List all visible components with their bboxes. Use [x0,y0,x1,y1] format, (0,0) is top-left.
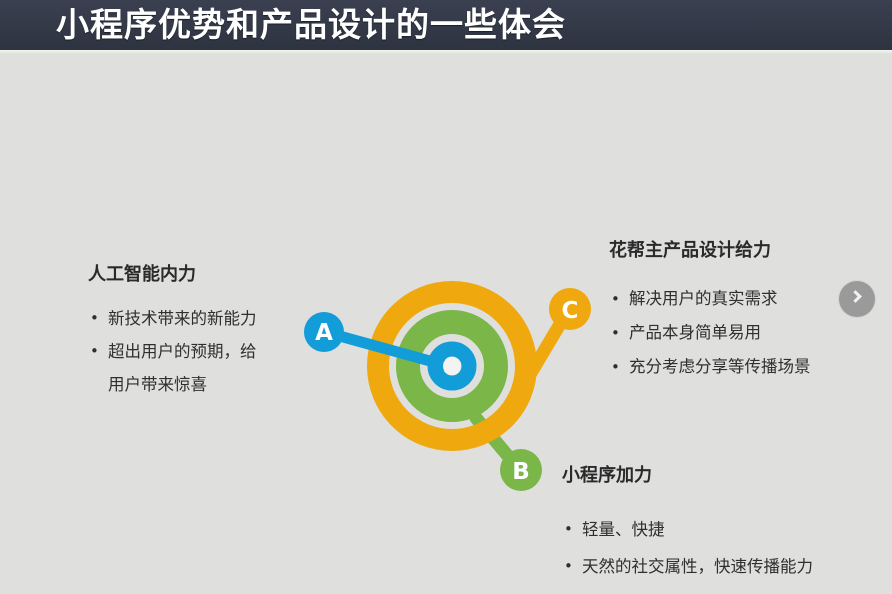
text-block-right-bottom: 小程序加力 轻量、快捷 天然的社交属性，快速传播能力 [562,463,882,585]
marker-b-label: B [512,459,530,485]
slide-canvas: 小程序优势和产品设计的一些体会 人工智能内力 新技术带来的新能力 超出用户的预期… [0,0,892,594]
marker-a-label: A [315,320,333,346]
marker-b[interactable]: B [500,449,542,491]
block-right-top-title: 花帮主产品设计给力 [609,238,879,264]
block-right-bottom-bullets: 轻量、快捷 天然的社交属性，快速传播能力 [562,511,882,585]
block-right-bottom-title: 小程序加力 [562,463,882,489]
marker-a[interactable]: A [304,312,344,352]
list-item: 充分考虑分享等传播场景 [609,350,879,384]
target-center-hole [443,357,461,375]
chevron-right-icon [849,290,862,303]
next-slide-button[interactable] [839,281,875,317]
list-item: 轻量、快捷 [562,511,882,548]
list-item: 天然的社交属性，快速传播能力 [562,548,882,585]
marker-c-label: C [562,298,579,324]
page-title: 小程序优势和产品设计的一些体会 [56,3,566,47]
concentric-target-diagram: A B C [290,270,600,500]
header-divider [0,50,892,54]
text-block-right-top: 花帮主产品设计给力 解决用户的真实需求 产品本身简单易用 充分考虑分享等传播场景 [609,238,879,384]
marker-c[interactable]: C [549,288,591,330]
list-item: 产品本身简单易用 [609,316,879,350]
slide-header-bar: 小程序优势和产品设计的一些体会 [0,0,892,50]
